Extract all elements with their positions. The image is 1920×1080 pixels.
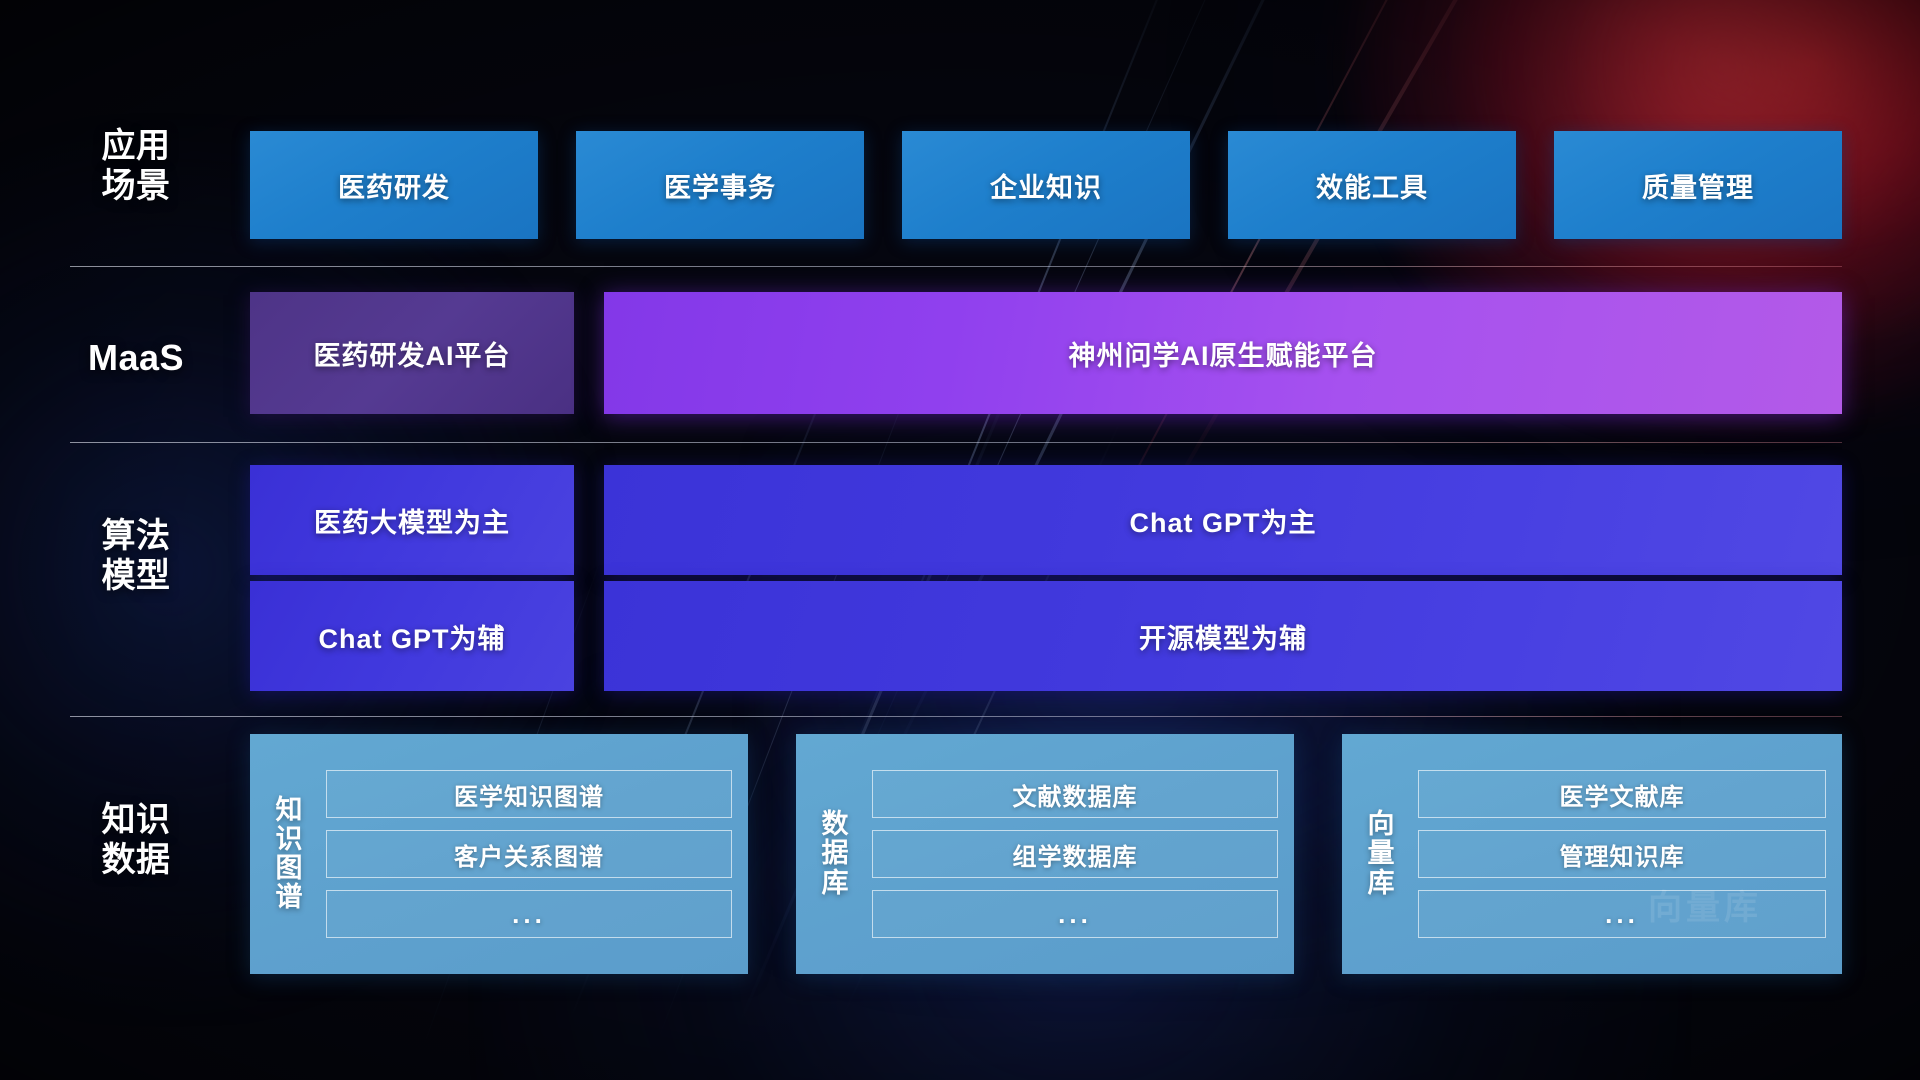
knowledge-panel-graph-items: 医学知识图谱 客户关系图谱 ... [326,770,732,938]
algo-card-left-0-label: 医药大模型为主 [314,501,510,540]
algo-card-right-1-label: 开源模型为辅 [1139,617,1307,656]
maas-card-platform-shenzhou-label: 神州问学AI原生赋能平台 [1069,334,1378,373]
slide-canvas: 应用 场景 医药研发 医学事务 企业知识 效能工具 质量管理 MaaS 医药研发… [0,0,1920,1080]
app-card-2[interactable]: 企业知识 [902,131,1190,239]
knowledge-item-graph-2[interactable]: ... [326,890,732,938]
app-card-3[interactable]: 效能工具 [1228,131,1516,239]
algo-card-left-0[interactable]: 医药大模型为主 [250,465,574,575]
algo-card-left-1-label: Chat GPT为辅 [318,617,505,656]
knowledge-panel-vector-title: 向 量 库 [1358,810,1404,897]
knowledge-panel-database-title: 数 据 库 [812,810,858,897]
knowledge-item-vector-0[interactable]: 医学文献库 [1418,770,1826,818]
diagram-content: 应用 场景 医药研发 医学事务 企业知识 效能工具 质量管理 MaaS 医药研发… [0,0,1920,1080]
algo-card-right-1[interactable]: 开源模型为辅 [604,581,1842,691]
knowledge-panel-graph-title: 知 识 图 谱 [266,796,312,913]
maas-card-platform-rd-label: 医药研发AI平台 [314,334,511,373]
knowledge-item-vector-1[interactable]: 管理知识库 [1418,830,1826,878]
app-card-4-label: 质量管理 [1642,166,1754,205]
divider-2 [70,442,1842,443]
knowledge-panel-graph[interactable]: 知 识 图 谱 医学知识图谱 客户关系图谱 ... [250,734,748,974]
divider-1 [70,266,1842,267]
app-card-1-label: 医学事务 [664,166,776,205]
app-card-2-label: 企业知识 [990,166,1102,205]
knowledge-item-database-0[interactable]: 文献数据库 [872,770,1278,818]
algo-card-right-0[interactable]: Chat GPT为主 [604,465,1842,575]
knowledge-item-graph-1[interactable]: 客户关系图谱 [326,830,732,878]
algo-card-right-0-label: Chat GPT为主 [1129,501,1316,540]
row-label-maas: MaaS [70,337,202,379]
knowledge-panel-database[interactable]: 数 据 库 文献数据库 组学数据库 ... [796,734,1294,974]
row-label-algorithm-models: 算法 模型 [70,516,202,596]
knowledge-panel-vector-items: 医学文献库 管理知识库 ... [1418,770,1826,938]
row-label-application-scenarios: 应用 场景 [70,126,202,206]
divider-3 [70,716,1842,717]
knowledge-item-database-2[interactable]: ... [872,890,1278,938]
app-card-0[interactable]: 医药研发 [250,131,538,239]
knowledge-item-vector-2[interactable]: ... [1418,890,1826,938]
app-card-0-label: 医药研发 [338,166,450,205]
algo-card-left-1[interactable]: Chat GPT为辅 [250,581,574,691]
knowledge-item-database-1[interactable]: 组学数据库 [872,830,1278,878]
maas-card-platform-shenzhou[interactable]: 神州问学AI原生赋能平台 [604,292,1842,414]
knowledge-panel-database-items: 文献数据库 组学数据库 ... [872,770,1278,938]
app-card-1[interactable]: 医学事务 [576,131,864,239]
app-card-4[interactable]: 质量管理 [1554,131,1842,239]
knowledge-panel-vector[interactable]: 向 量 库 医学文献库 管理知识库 ... [1342,734,1842,974]
knowledge-item-graph-0[interactable]: 医学知识图谱 [326,770,732,818]
maas-card-platform-rd[interactable]: 医药研发AI平台 [250,292,574,414]
row-label-knowledge-data: 知识 数据 [70,800,202,880]
app-card-3-label: 效能工具 [1316,166,1428,205]
